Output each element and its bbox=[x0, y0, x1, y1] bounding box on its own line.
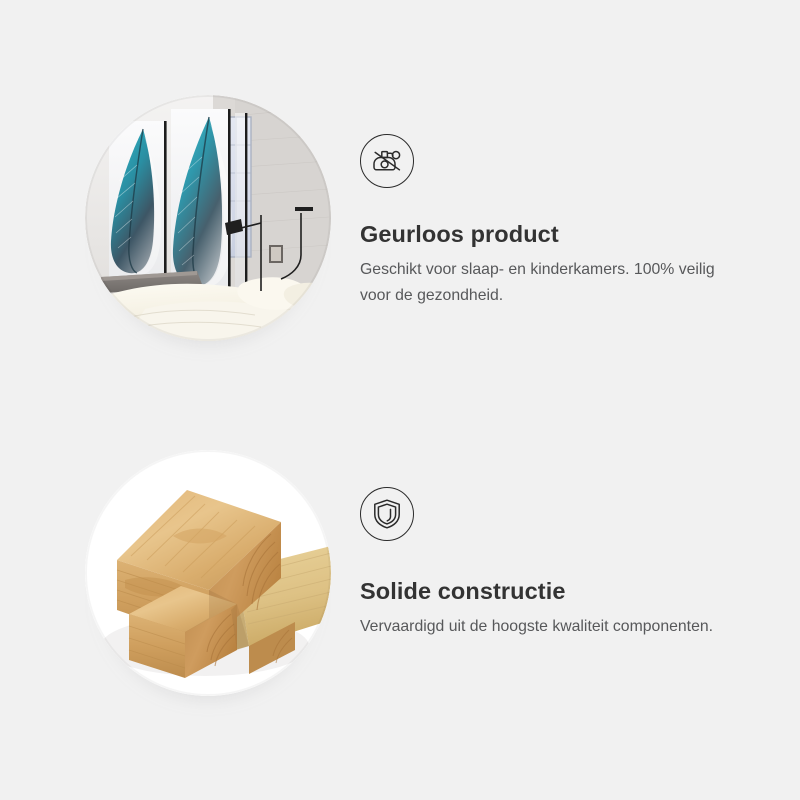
feature-text-block: Solide constructie Vervaardigd uit de ho… bbox=[360, 395, 760, 640]
bedroom-feather-wall-art-photo bbox=[85, 95, 331, 341]
feature-description: Geschikt voor slaap- en kinderkamers. 10… bbox=[360, 257, 745, 309]
feature-row: Geurloos product Geschikt voor slaap- en… bbox=[0, 40, 800, 400]
feature-title: Geurloos product bbox=[360, 220, 760, 248]
feature-row: Solide constructie Vervaardigd uit de ho… bbox=[0, 395, 800, 755]
feature-text-block: Geurloos product Geschikt voor slaap- en… bbox=[360, 40, 760, 309]
wooden-blocks-photo bbox=[85, 450, 331, 696]
no-fragrance-icon bbox=[360, 134, 414, 188]
feature-photo bbox=[85, 95, 331, 341]
shield-icon bbox=[360, 487, 414, 541]
feature-list: Geurloos product Geschikt voor slaap- en… bbox=[0, 0, 800, 800]
feature-title: Solide constructie bbox=[360, 577, 760, 605]
feature-description: Vervaardigd uit de hoogste kwaliteit com… bbox=[360, 614, 745, 640]
feature-photo bbox=[85, 450, 331, 696]
